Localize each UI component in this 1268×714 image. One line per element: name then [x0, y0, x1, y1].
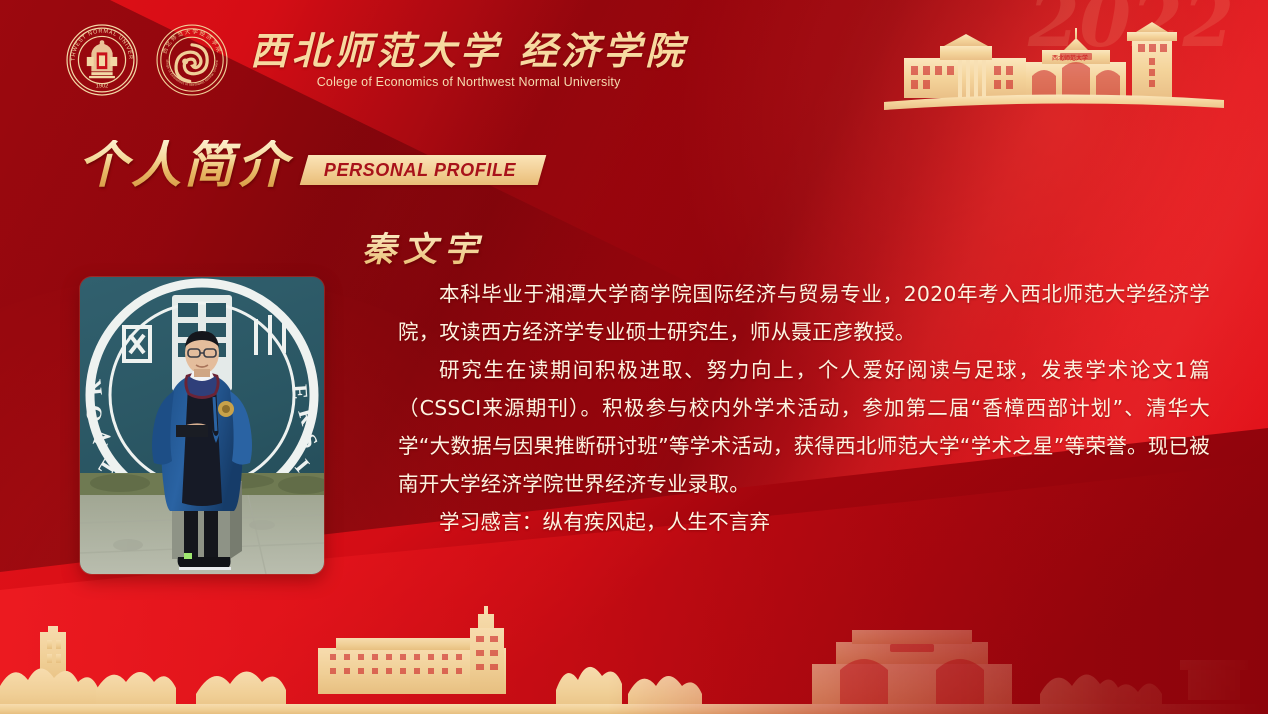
bio-paragraph-2: 研究生在读期间积极进取、努力向上，个人爱好阅读与足球，发表学术论文1篇（CSSC… [398, 351, 1210, 503]
page-title-chinese: 个人简介 [78, 140, 300, 190]
campus-gate-building-illustration-icon: 西北师范大学 [884, 6, 1224, 114]
brand-wordmark: 西北师范大学 经济学院 Colege of Economics of North… [250, 31, 687, 89]
svg-text:O: O [80, 403, 107, 423]
slide-root: 2022 [0, 0, 1268, 714]
profile-photo-frame: N O R T H E R S I T Y [80, 277, 324, 574]
bio-paragraph-3: 学习感言：纵有疾风起，人生不言弃 [398, 503, 1210, 541]
campus-skyline-silhouette-icon [0, 594, 1268, 714]
wordmark-chinese: 西北师范大学 经济学院 [250, 31, 687, 71]
page-title: 个人简介 PERSONAL PROFILE [78, 140, 542, 190]
seal-year-text: 1902 [96, 83, 109, 89]
nwnu-university-seal-icon: NORTHWEST NORMAL UNIVERSITY 1902 [64, 22, 140, 98]
wordmark-english: Colege of Economics of Northwest Normal … [250, 75, 687, 89]
profile-name: 秦文宇 [362, 222, 485, 271]
profile-bio: 本科毕业于湘潭大学商学院国际经济与贸易专业，2020年考入西北师范大学经济学院，… [398, 275, 1210, 541]
campus-gate-plaque-text: 西北师范大学 [1052, 54, 1088, 62]
college-of-economics-seal-icon: 西北师范大学经济学院 College of Economics of North… [154, 22, 230, 98]
svg-text:E: E [287, 384, 313, 400]
graduation-portrait-photo: N O R T H E R S I T Y [80, 277, 324, 574]
page-title-english-banner: PERSONAL PROFILE [300, 155, 547, 185]
brand-logo-row: NORTHWEST NORMAL UNIVERSITY 1902 [64, 22, 687, 98]
slide-header: 2022 [0, 0, 1268, 118]
bio-paragraph-1: 本科毕业于湘潭大学商学院国际经济与贸易专业，2020年考入西北师范大学经济学院，… [398, 275, 1210, 351]
college-seal-arc-cn: 西北师范大学经济学院 [161, 27, 224, 54]
page-title-english: PERSONAL PROFILE [324, 160, 516, 181]
